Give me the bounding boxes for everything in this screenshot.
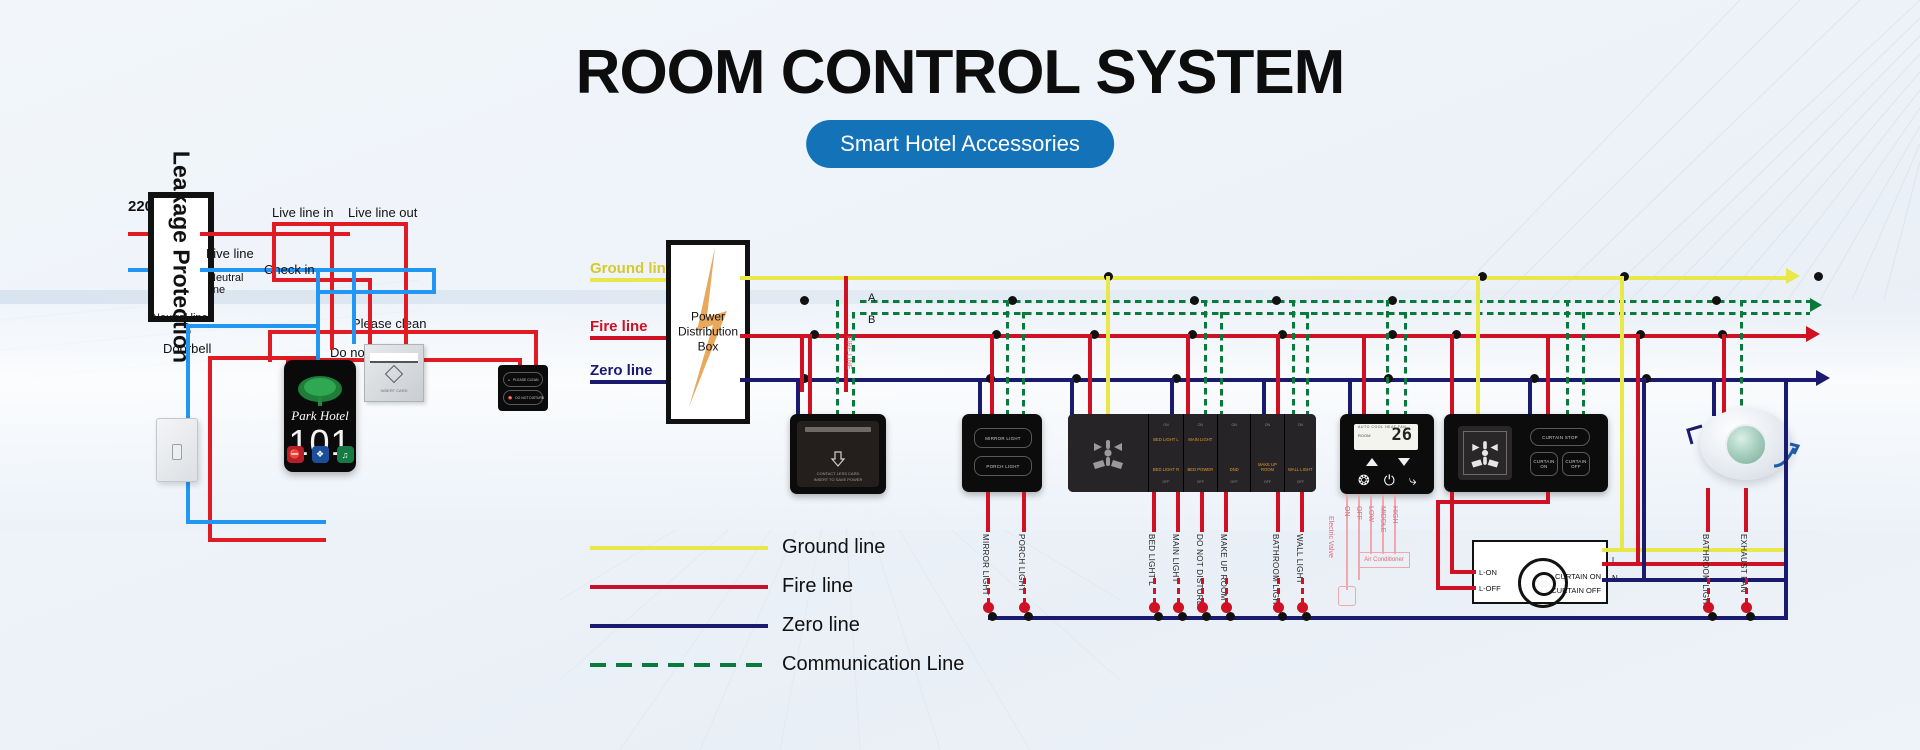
fan-icon[interactable]: ⤷ xyxy=(1409,472,1417,489)
curtain-panel-socket[interactable] xyxy=(1458,426,1512,480)
bus-dot xyxy=(1712,296,1721,305)
leakage-protection-label: Leakage Protection xyxy=(168,151,195,363)
drop-comm-d1-a xyxy=(836,300,839,416)
tree-logo-icon xyxy=(293,373,347,407)
motor-terminal-l-off: L-OFF xyxy=(1479,584,1501,593)
drop-fire-d4 xyxy=(1362,334,1366,416)
curtain-wire-off-v xyxy=(1436,500,1440,586)
drop-fire-d5 xyxy=(1450,334,1454,416)
gang-label-dnd: DND xyxy=(1221,467,1248,472)
power-distribution-box-label: Power Distribution Box xyxy=(675,310,741,355)
annotation-electric-valve: Electric Valve xyxy=(1327,516,1334,558)
universal-socket-icon xyxy=(1465,433,1505,473)
wire-neutral-mid xyxy=(208,324,320,328)
bus-dot xyxy=(1388,330,1397,339)
pill-icon-clean: ⚹ xyxy=(508,378,510,382)
legend-item-communication: Communication Line xyxy=(590,645,964,684)
load-dash xyxy=(1201,578,1204,604)
label-live-line-out: Live line out xyxy=(348,205,417,220)
drop-fire-d3c xyxy=(1276,334,1280,416)
legend-item-zero: Zero line xyxy=(590,606,964,645)
legend-swatch-ground xyxy=(590,546,768,550)
curtain-on-label: CURTAIN ON xyxy=(1531,459,1557,470)
please-clean-text: PLEASE CLEAN xyxy=(513,378,538,382)
door-plate[interactable]: Park Hotel 101 ⛔ ❖ ♫ xyxy=(284,360,356,472)
do-not-disturb-text: DO NOT DISTURB xyxy=(515,396,544,400)
bus-fire xyxy=(740,334,1806,338)
motor-wire-neutral xyxy=(1602,578,1786,582)
motor-wire-ground xyxy=(1602,548,1786,552)
wire-checkin xyxy=(272,278,372,282)
label-neutral-line-2: Neutral line xyxy=(152,312,208,324)
pill-icon-dnd: ⛔ xyxy=(508,396,512,400)
load-wire-bed-light xyxy=(1152,492,1156,532)
curtain-wire-on-v xyxy=(1450,492,1454,574)
return-bus-dot xyxy=(1024,612,1033,621)
therm-wire-low xyxy=(1370,494,1372,554)
gang-dnd[interactable]: ON DND OFF xyxy=(1218,414,1251,492)
pdb-drop-red-2 xyxy=(844,276,848,392)
wire-label-main-light: MAIN LIGHT xyxy=(1171,534,1180,583)
mirror-light-label: MIRROR LIGHT xyxy=(985,436,1021,441)
drop-comm-d1-b xyxy=(852,312,855,416)
curtain-wire-top-h xyxy=(1436,500,1550,504)
bus-dot xyxy=(1272,296,1281,305)
drop-zero-d3b xyxy=(1170,378,1174,416)
gang-bed-light[interactable]: ON BED LIGHT L BED LIGHT R OFF xyxy=(1149,414,1183,492)
temp-up-button[interactable] xyxy=(1366,458,1378,466)
bus-dot xyxy=(1814,272,1823,281)
load-wire-porch xyxy=(1022,492,1026,532)
lcd-room-label: ROOM xyxy=(1358,433,1370,438)
clean-icon[interactable]: ❖ xyxy=(312,446,329,463)
drop-comm-d4-b xyxy=(1404,312,1407,416)
drop-comm-d5-b xyxy=(1582,312,1585,416)
wire-live-drop-3 xyxy=(404,222,408,344)
drop-fire-d3b xyxy=(1186,334,1190,416)
drop-comm-d2-b xyxy=(1022,312,1025,416)
do-not-disturb-pill[interactable]: ⛔ DO NOT DISTURB xyxy=(503,390,543,405)
gang-label-main-light: MAIN LIGHT xyxy=(1186,437,1214,442)
gang-bottom-label: OFF xyxy=(1218,480,1250,484)
therm-label-on: ON xyxy=(1343,506,1350,517)
wire-checkin-drop xyxy=(368,278,372,344)
curtain-wire-off-h xyxy=(1436,586,1476,590)
wire-neutral-card-h xyxy=(316,290,436,294)
air-conditioner-box: Air Conditioner xyxy=(1358,552,1410,568)
mirror-light-button[interactable]: MIRROR LIGHT xyxy=(974,428,1032,448)
wire-live-drop-1 xyxy=(272,222,276,280)
wire-neutral-right-h xyxy=(320,268,436,272)
bus-comm-arrow xyxy=(1810,298,1822,312)
return-bus-dot xyxy=(1226,612,1235,621)
insert-arrow-icon xyxy=(830,451,846,467)
load-dash xyxy=(1277,578,1280,604)
drop-ground-d3 xyxy=(1106,276,1110,416)
power-distribution-box: Power Distribution Box xyxy=(666,240,750,424)
universal-socket-gang[interactable] xyxy=(1068,414,1149,492)
gang-bottom-label: OFF xyxy=(1251,480,1283,484)
snowflake-icon[interactable]: ❂ xyxy=(1358,472,1370,489)
drop-comm-d2-a xyxy=(1006,300,1009,416)
drop-comm-d3-a xyxy=(1204,300,1207,416)
load-wire-wall-light xyxy=(1300,492,1304,532)
label-zero-line: Zero line xyxy=(590,362,653,379)
gang-label-bed-power: BED POWER xyxy=(1186,467,1214,472)
card-slot xyxy=(370,353,419,363)
drop-zero-d3c xyxy=(1262,378,1266,416)
curtain-off-button[interactable]: CURTAIN OFF xyxy=(1562,452,1590,476)
leakage-protection-box: Leakage Protection xyxy=(148,192,214,322)
return-bus-dot xyxy=(1154,612,1163,621)
legend-item-ground: Ground line xyxy=(590,528,964,567)
wire-neutral-bottom xyxy=(186,520,326,524)
gang-top-label: ON xyxy=(1149,423,1182,427)
wire-neutral-card xyxy=(352,268,356,344)
bus-dot xyxy=(1388,296,1397,305)
wire-doorbell-left xyxy=(208,356,212,542)
load-wire-exhaust xyxy=(1744,488,1748,532)
load-wire-dnd xyxy=(1200,492,1204,532)
label-ground-line: Ground line xyxy=(590,260,674,277)
lcd-temperature: 26 xyxy=(1392,427,1412,444)
bus-dot xyxy=(1008,296,1017,305)
drop-comm-d4-a xyxy=(1386,300,1389,416)
load-wire-mirror xyxy=(986,492,990,532)
curtain-wire-panel-v xyxy=(1546,492,1550,504)
please-clean-pill[interactable]: ⚹ PLEASE CLEAN xyxy=(503,372,543,387)
motor-label-curtain-off: CURTAIN OFF xyxy=(1551,586,1601,595)
load-dash xyxy=(1745,578,1748,604)
multi-gang-panel[interactable]: ON BED LIGHT L BED LIGHT R OFF ON MAIN L… xyxy=(1068,414,1316,492)
bus-comm-a xyxy=(860,300,1810,303)
motor-wire-live-riser xyxy=(1636,334,1640,562)
curtain-stop-button[interactable]: CURTAIN STOP xyxy=(1530,428,1590,446)
load-wire-main-light xyxy=(1176,492,1180,532)
thermostat-lcd: AUTO COOL HEAT FAN ROOM 26 xyxy=(1354,424,1418,450)
legend-swatch-fire xyxy=(590,585,768,589)
curtain-on-button[interactable]: CURTAIN ON xyxy=(1530,452,1558,476)
load-dash xyxy=(1153,578,1156,604)
bus-fire-arrow xyxy=(1806,326,1820,342)
wire-clean-bus xyxy=(268,330,538,334)
wire-ground-left xyxy=(590,278,670,282)
legend-label-communication: Communication Line xyxy=(782,653,964,676)
legend: Ground line Fire line Zero line Communic… xyxy=(590,528,964,684)
diagram-canvas: ROOM CONTROL SYSTEM Smart Hotel Accessor… xyxy=(0,0,1920,750)
legend-label-ground: Ground line xyxy=(782,536,885,559)
wire-label-wall-light: WALL LIGHT xyxy=(1295,534,1304,584)
motor-ring-icon xyxy=(1518,558,1568,608)
return-bus-dot xyxy=(1302,612,1311,621)
two-gang-switch-device[interactable]: MIRROR LIGHT PORCH LIGHT xyxy=(962,414,1042,492)
label-live-line-in: Live line in xyxy=(272,205,333,220)
card-power-switch-device[interactable]: CONTACT LESS CARDINSERT TO SAVE POWER xyxy=(790,414,886,494)
drop-fire-d3 xyxy=(1088,334,1092,416)
gang-label-bed-light-l: BED LIGHT L xyxy=(1152,437,1180,442)
drop-zero-d4 xyxy=(1348,378,1352,416)
drop-zero-d2 xyxy=(978,378,982,416)
motor-wire-neutral-riser xyxy=(1642,378,1646,578)
gang-make-up-room[interactable]: ON MAKE UP ROOM OFF xyxy=(1251,414,1284,492)
legend-label-zero: Zero line xyxy=(782,614,860,637)
curtain-stop-label: CURTAIN STOP xyxy=(1542,435,1578,440)
drop-comm-d3-c xyxy=(1292,300,1295,416)
card-switch-caption: INSERT CARD xyxy=(365,388,423,393)
porch-light-button[interactable]: PORCH LIGHT xyxy=(974,456,1032,476)
curtain-motor-box: L-ON L-OFF CURTAIN ON CURTAIN OFF xyxy=(1472,540,1608,604)
curtain-panel-device[interactable]: CURTAIN STOP CURTAIN ON CURTAIN OFF xyxy=(1444,414,1608,492)
wire-doorbell-bottom xyxy=(208,538,326,542)
temp-down-button[interactable] xyxy=(1398,458,1410,466)
legend-label-fire: Fire line xyxy=(782,575,853,598)
dnd-icon[interactable]: ⛔ xyxy=(287,446,304,463)
load-dash-mirror xyxy=(987,578,990,604)
card-slot-bar xyxy=(805,427,871,432)
thermostat-panel-device[interactable]: AUTO COOL HEAT FAN ROOM 26 ❂ ⏻ ⤷ xyxy=(1340,414,1434,494)
bus-zero-arrow xyxy=(1816,370,1830,386)
doorbell-button[interactable] xyxy=(172,444,182,460)
drop-fire-d2 xyxy=(990,334,994,416)
label-neutral-line: Neutral line xyxy=(208,272,252,296)
gang-label-make-up-room: MAKE UP ROOM xyxy=(1254,462,1281,472)
curtain-wire-on-h xyxy=(1450,570,1476,574)
gang-top-label: ON xyxy=(1285,423,1316,427)
door-plate-icons: ⛔ ❖ ♫ xyxy=(284,446,356,463)
label-live-line: Live line xyxy=(206,246,254,261)
bus-ground-arrow xyxy=(1786,268,1800,284)
wire-fire-left xyxy=(590,336,670,340)
load-wire-bathroom xyxy=(1706,488,1710,532)
thermostat-button-row: ❂ ⏻ ⤷ xyxy=(1358,472,1417,489)
gang-top-label: ON xyxy=(1184,423,1217,427)
motor-wire-live xyxy=(1602,562,1786,566)
return-bus-dot xyxy=(1708,612,1717,621)
bus-dot xyxy=(800,296,809,305)
load-dash xyxy=(1707,578,1710,604)
bus-marker-a: A xyxy=(868,292,875,304)
load-dash xyxy=(1301,578,1304,604)
subtitle-badge: Smart Hotel Accessories xyxy=(806,120,1114,168)
return-bus-riser-right xyxy=(1784,378,1788,620)
return-bus-dot xyxy=(1202,612,1211,621)
gang-top-label: ON xyxy=(1218,423,1250,427)
drop-comm-d5-a xyxy=(1566,300,1569,416)
return-bus-dot xyxy=(1278,612,1287,621)
drop-comm-d3-d xyxy=(1306,312,1309,416)
therm-label-high: HIGH xyxy=(1391,506,1398,524)
gang-wall-light[interactable]: ON WALL LIGHT OFF xyxy=(1285,414,1316,492)
load-dash xyxy=(1177,578,1180,604)
page-title: ROOM CONTROL SYSTEM xyxy=(0,42,1920,104)
load-wire-bathroom-light xyxy=(1276,492,1280,532)
return-bus-dot xyxy=(1178,612,1187,621)
wire-neutral-drop-1 xyxy=(316,268,320,360)
bus-marker-b: B xyxy=(868,314,875,326)
porch-light-label: PORCH LIGHT xyxy=(986,464,1019,469)
drop-fire-d6 xyxy=(1722,334,1726,416)
gang-main-light[interactable]: ON MAIN LIGHT BED POWER OFF xyxy=(1184,414,1218,492)
label-fire-line: Fire line xyxy=(590,318,648,335)
power-icon[interactable]: ⏻ xyxy=(1384,472,1395,489)
pdb-vertical-label: FIRE LINE xyxy=(845,336,852,369)
dnd-indicator-box[interactable]: ⚹ PLEASE CLEAN ⛔ DO NOT DISTURB xyxy=(498,365,548,411)
gang-label-bed-light-r: BED LIGHT R xyxy=(1152,467,1180,472)
gang-top-label: ON xyxy=(1251,423,1283,427)
therm-wire-high xyxy=(1394,494,1396,554)
gang-bottom-label: OFF xyxy=(1285,480,1316,484)
doorbell-unit[interactable] xyxy=(156,418,198,482)
gang-bottom-label: OFF xyxy=(1184,480,1217,484)
motor-terminal-l-on: L-ON xyxy=(1479,568,1497,577)
drop-comm-d3-b xyxy=(1220,312,1223,416)
motor-wire-ground-riser xyxy=(1620,276,1624,548)
wire-neutral-top-link xyxy=(186,324,212,328)
drop-fire-d5b xyxy=(1546,334,1550,416)
therm-label-low: LOW xyxy=(1367,506,1374,522)
label-please-clean: Please clean xyxy=(352,316,426,331)
return-bus-zero xyxy=(988,616,1788,620)
drop-zero-d6 xyxy=(1712,378,1716,416)
legend-swatch-zero xyxy=(590,624,768,628)
electric-valve-symbol xyxy=(1338,586,1356,606)
drop-fire-d1 xyxy=(808,334,812,416)
wire-live-top xyxy=(272,222,408,226)
drop-ground-d5 xyxy=(1476,276,1480,416)
bell-icon[interactable]: ♫ xyxy=(337,446,354,463)
card-diamond-icon xyxy=(385,365,403,383)
load-wire-make-up xyxy=(1224,492,1228,532)
load-dash xyxy=(1225,578,1228,604)
drop-zero-d1 xyxy=(796,378,800,416)
legend-swatch-communication xyxy=(590,663,768,667)
return-bus-dot xyxy=(1746,612,1755,621)
legend-item-fire: Fire line xyxy=(590,567,964,606)
bus-dot xyxy=(1190,296,1199,305)
pir-signal-icon xyxy=(1676,420,1710,454)
drop-zero-d3 xyxy=(1070,378,1074,416)
pdb-drop-red-1 xyxy=(800,334,804,392)
bus-ground xyxy=(740,276,1786,280)
gang-bottom-label: OFF xyxy=(1149,480,1182,484)
load-dash-porch xyxy=(1023,578,1026,604)
card-power-caption: CONTACT LESS CARDINSERT TO SAVE POWER xyxy=(797,471,879,482)
card-power-screen: CONTACT LESS CARDINSERT TO SAVE POWER xyxy=(797,421,879,487)
card-insert-switch[interactable]: INSERT CARD xyxy=(364,344,424,402)
drop-zero-d5 xyxy=(1528,378,1532,416)
therm-label-middle: MIDDLE xyxy=(1379,506,1386,532)
return-bus-dot xyxy=(988,612,997,621)
universal-socket-icon xyxy=(1086,431,1130,475)
therm-label-off: OFF xyxy=(1355,506,1362,520)
motor-label-curtain-on: CURTAIN ON xyxy=(1555,572,1601,581)
wire-zero-left xyxy=(590,380,670,384)
gang-label-wall-light: WALL LIGHT xyxy=(1287,467,1313,472)
drop-comm-d6 xyxy=(1740,300,1743,416)
pir-lens xyxy=(1725,424,1767,466)
curtain-off-label: CURTAIN OFF xyxy=(1563,459,1589,470)
bus-comm-b xyxy=(860,312,1810,315)
